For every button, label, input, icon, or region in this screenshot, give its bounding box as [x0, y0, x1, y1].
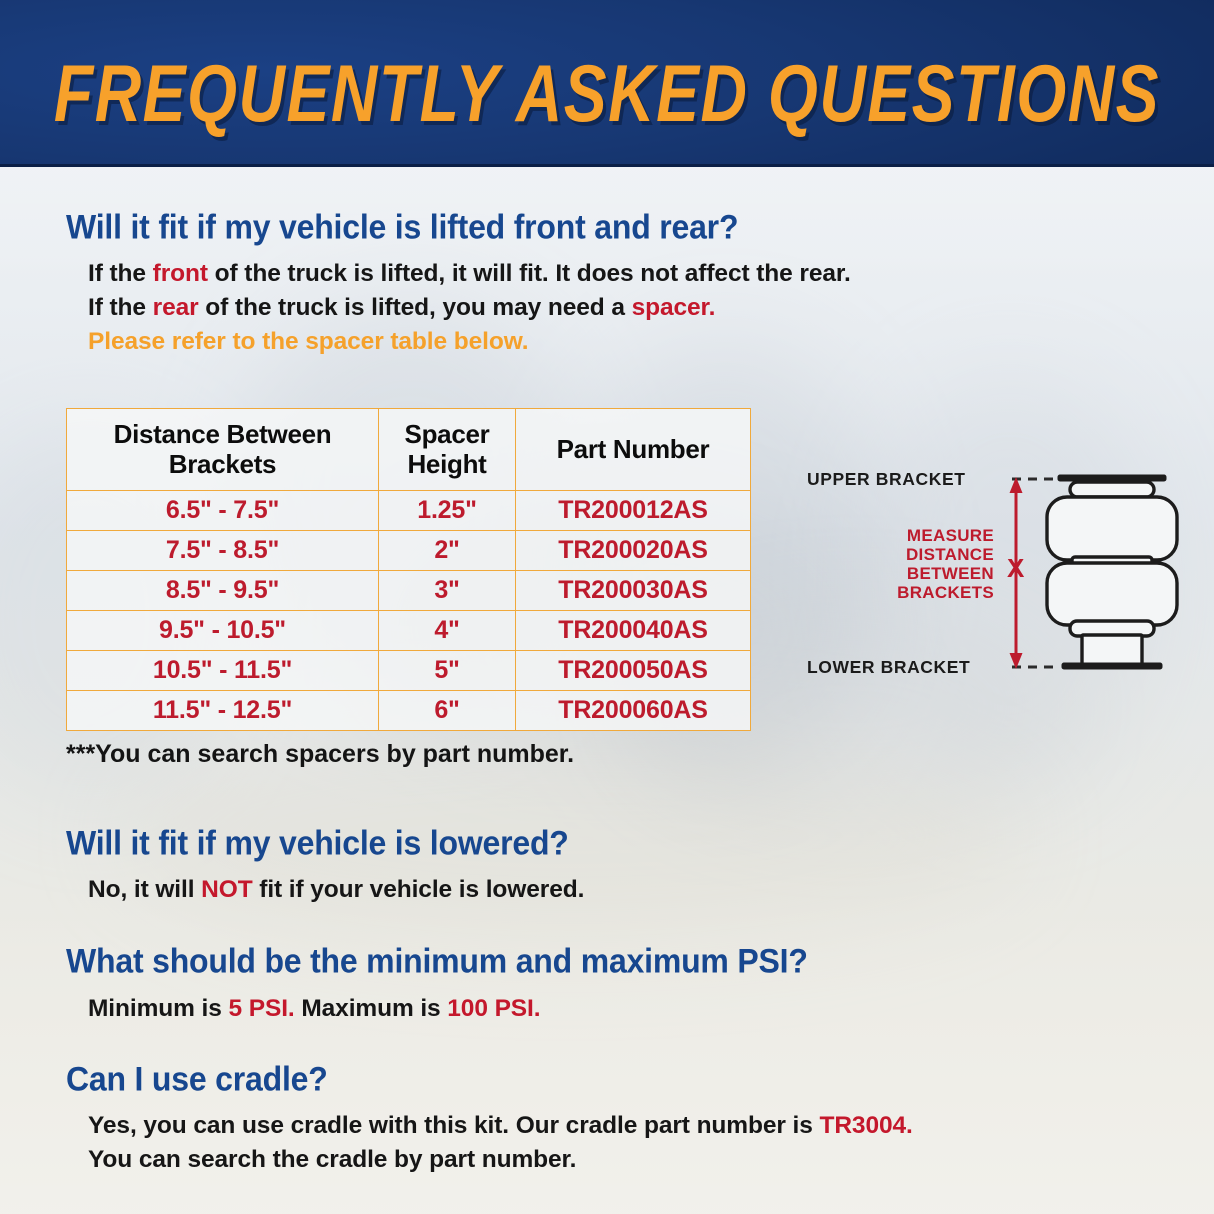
text-run-3: spacer. [632, 294, 716, 321]
cell-part-number: TR200020AS [516, 531, 751, 571]
bracket-measurement-diagram: UPPER BRACKET LOWER BRACKET MEASURE DIST… [790, 455, 1202, 687]
text-run-2: of the truck is lifted, you may need a [199, 294, 632, 321]
table-row: 10.5" - 11.5"5"TR200050AS [67, 651, 751, 691]
upper-bracket-label: UPPER BRACKET [807, 469, 966, 489]
measure-text-line-2: DISTANCE [906, 545, 994, 564]
faq-question-2: Will it fit if my vehicle is lowered? [66, 824, 569, 863]
cell-part-number: TR200060AS [516, 691, 751, 731]
text-run-0: Minimum is [88, 995, 228, 1022]
lower-convolution [1047, 563, 1177, 625]
cell-distance: 11.5" - 12.5" [67, 691, 379, 731]
text-run-0: No, it will [88, 876, 201, 903]
text-run-1: NOT [201, 876, 252, 903]
text-run-2: Maximum is [295, 995, 448, 1022]
text-run-0: Yes, you can use cradle with this kit. O… [88, 1112, 819, 1139]
faq-answer-3-line-1: Minimum is 5 PSI. Maximum is 100 PSI. [88, 995, 540, 1023]
air-spring-bellows-icon [1047, 475, 1177, 669]
faq-question-4: Can I use cradle? [66, 1060, 328, 1099]
cell-part-number: TR200050AS [516, 651, 751, 691]
upper-convolution [1047, 497, 1177, 560]
measure-text-line-3: BETWEEN [907, 564, 994, 583]
table-row: 6.5" - 7.5"1.25"TR200012AS [67, 491, 751, 531]
text-run-0: You can search the cradle by part number… [88, 1146, 576, 1173]
table-body: 6.5" - 7.5"1.25"TR200012AS7.5" - 8.5"2"T… [67, 491, 751, 731]
column-header-spacer-height: Spacer Height [379, 409, 516, 491]
text-run-1: TR3004. [819, 1112, 912, 1139]
header-banner: FREQUENTLY ASKED QUESTIONS [0, 0, 1214, 167]
cell-spacer-height: 3" [379, 571, 516, 611]
measure-text-line-4: BRACKETS [897, 583, 994, 602]
text-run-0: If the [88, 294, 153, 321]
faq-question-1: Will it fit if my vehicle is lifted fron… [66, 208, 738, 247]
cell-spacer-height: 4" [379, 611, 516, 651]
cell-part-number: TR200012AS [516, 491, 751, 531]
faq-answer-1-line-3: Please refer to the spacer table below. [88, 328, 528, 356]
cell-spacer-height: 5" [379, 651, 516, 691]
column-header-part-number: Part Number [516, 409, 751, 491]
cell-part-number: TR200040AS [516, 611, 751, 651]
bottom-mounting-plate [1062, 663, 1162, 669]
cell-part-number: TR200030AS [516, 571, 751, 611]
measure-text-line-1: MEASURE [907, 526, 994, 545]
text-run-2: fit if your vehicle is lowered. [253, 876, 585, 903]
cell-spacer-height: 2" [379, 531, 516, 571]
table-header-row: Distance Between Brackets Spacer Height … [67, 409, 751, 491]
cell-distance: 10.5" - 11.5" [67, 651, 379, 691]
text-run-0: If the [88, 260, 153, 287]
text-run-1: rear [153, 294, 199, 321]
text-run-2: of the truck is lifted, it will fit. It … [208, 260, 851, 287]
faq-answer-4-line-1: Yes, you can use cradle with this kit. O… [88, 1112, 913, 1140]
top-collar [1070, 482, 1154, 497]
cell-distance: 9.5" - 10.5" [67, 611, 379, 651]
piston-body [1082, 635, 1142, 665]
cell-distance: 6.5" - 7.5" [67, 491, 379, 531]
table-row: 9.5" - 10.5"4"TR200040AS [67, 611, 751, 651]
spacer-table: Distance Between Brackets Spacer Height … [66, 408, 751, 731]
top-mounting-plate [1058, 475, 1166, 481]
faq-answer-1-line-2: If the rear of the truck is lifted, you … [88, 294, 715, 322]
table-row: 7.5" - 8.5"2"TR200020AS [67, 531, 751, 571]
spacer-table-note: ***You can search spacers by part number… [66, 740, 574, 769]
cell-distance: 7.5" - 8.5" [67, 531, 379, 571]
table-row: 11.5" - 12.5"6"TR200060AS [67, 691, 751, 731]
cell-spacer-height: 1.25" [379, 491, 516, 531]
text-run-3: 100 PSI. [447, 995, 540, 1022]
faq-question-3: What should be the minimum and maximum P… [66, 942, 808, 981]
text-run-1: front [153, 260, 208, 287]
faq-answer-1-line-1: If the front of the truck is lifted, it … [88, 260, 851, 288]
faq-answer-4-line-2: You can search the cradle by part number… [88, 1146, 576, 1174]
text-run-0: Please refer to the spacer table below. [88, 328, 528, 355]
cell-distance: 8.5" - 9.5" [67, 571, 379, 611]
faq-answer-2-line-1: No, it will NOT fit if your vehicle is l… [88, 876, 584, 904]
page-title: FREQUENTLY ASKED QUESTIONS [0, 48, 1214, 140]
cell-spacer-height: 6" [379, 691, 516, 731]
table-row: 8.5" - 9.5"3"TR200030AS [67, 571, 751, 611]
lower-bracket-label: LOWER BRACKET [807, 657, 970, 677]
faq-content: Will it fit if my vehicle is lifted fron… [0, 167, 1214, 1214]
text-run-1: 5 PSI. [228, 995, 294, 1022]
column-header-distance: Distance Between Brackets [67, 409, 379, 491]
